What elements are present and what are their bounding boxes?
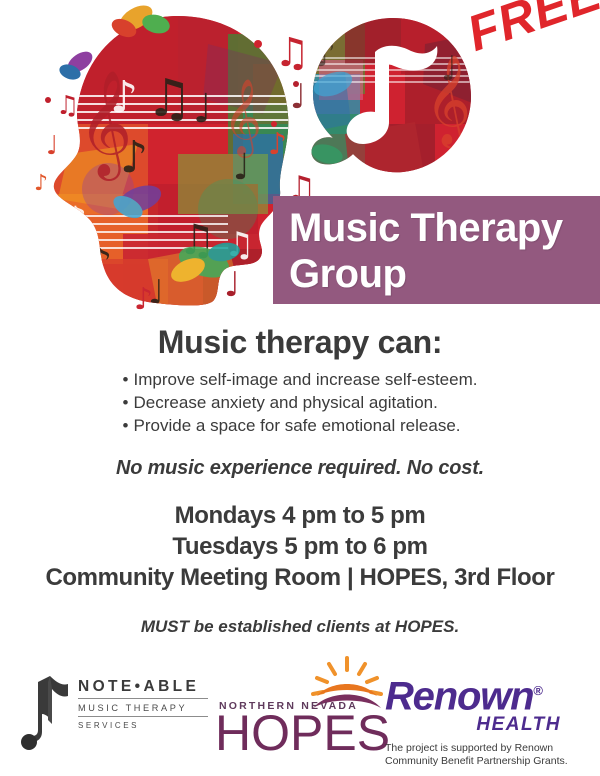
benefits-list: Improve self-image and increase self-est…: [123, 368, 478, 437]
hopes-logo: NORTHERN NEVADA HOPES: [215, 656, 375, 741]
support-line-2: Community Benefit Partnership Grants.: [385, 755, 585, 768]
renown-wordmark: Renown®: [385, 670, 585, 717]
noteable-line-3: SERVICES: [78, 717, 208, 730]
noteable-line-2: MUSIC THERAPY: [78, 699, 208, 717]
noteable-line-1: NOTE•ABLE: [78, 678, 208, 699]
music-note-circle-logo: 𝄞 ♪ ♩: [305, 14, 475, 179]
svg-text:♫: ♫: [146, 69, 193, 129]
svg-text:♪: ♪: [313, 34, 336, 75]
svg-text:♪: ♪: [268, 127, 287, 162]
svg-text:𝄞: 𝄞: [223, 78, 262, 158]
schedule-block: Mondays 4 pm to 5 pm Tuesdays 5 pm to 6 …: [0, 500, 600, 593]
svg-text:♪: ♪: [64, 200, 87, 241]
list-item: Decrease anxiety and physical agitation.: [123, 391, 478, 414]
svg-text:♪: ♪: [110, 72, 138, 123]
title-band: Music Therapy Group: [273, 196, 600, 304]
svg-text:♫: ♫: [56, 91, 79, 121]
music-note-icon: [20, 672, 76, 755]
svg-text:♩: ♩: [233, 147, 250, 188]
list-item: Provide a space for safe emotional relea…: [123, 414, 478, 437]
svg-text:♩: ♩: [193, 86, 212, 132]
registered-mark: ®: [533, 683, 541, 698]
svg-text:♩: ♩: [224, 265, 240, 305]
title-line-2: Group: [289, 251, 600, 297]
schedule-line-location: Community Meeting Room | HOPES, 3rd Floo…: [0, 562, 600, 593]
support-line-1: The project is supported by Renown: [385, 742, 585, 755]
renown-name: Renown: [385, 674, 533, 718]
no-cost-tagline: No music experience required. No cost.: [0, 457, 600, 480]
renown-logo: Renown® HEALTH The project is supported …: [385, 670, 585, 770]
renown-support-text: The project is supported by Renown Commu…: [385, 742, 585, 768]
hopes-wordmark: HOPES: [215, 708, 390, 758]
logo-bar: NOTE•ABLE MUSIC THERAPY SERVICES: [0, 648, 600, 776]
schedule-line-tuesday: Tuesdays 5 pm to 6 pm: [0, 531, 600, 562]
noteable-logo: NOTE•ABLE MUSIC THERAPY SERVICES: [20, 668, 210, 750]
svg-text:♩: ♩: [46, 131, 58, 161]
flyer-body: Music therapy can: Improve self-image an…: [0, 322, 600, 637]
svg-text:♪: ♪: [34, 171, 48, 196]
svg-text:♪: ♪: [120, 132, 148, 183]
svg-text:♪: ♪: [134, 282, 153, 314]
schedule-line-monday: Mondays 4 pm to 5 pm: [0, 500, 600, 531]
benefits-headline: Music therapy can:: [0, 322, 600, 362]
title-line-1: Music Therapy: [289, 205, 600, 251]
svg-text:♩: ♩: [441, 49, 457, 89]
noteable-wordmark: NOTE•ABLE MUSIC THERAPY SERVICES: [78, 678, 208, 730]
list-item: Improve self-image and increase self-est…: [123, 368, 478, 391]
svg-text:♪: ♪: [88, 241, 112, 285]
eligibility-note: MUST be established clients at HOPES.: [0, 617, 600, 637]
free-badge: FREE: [460, 0, 600, 63]
